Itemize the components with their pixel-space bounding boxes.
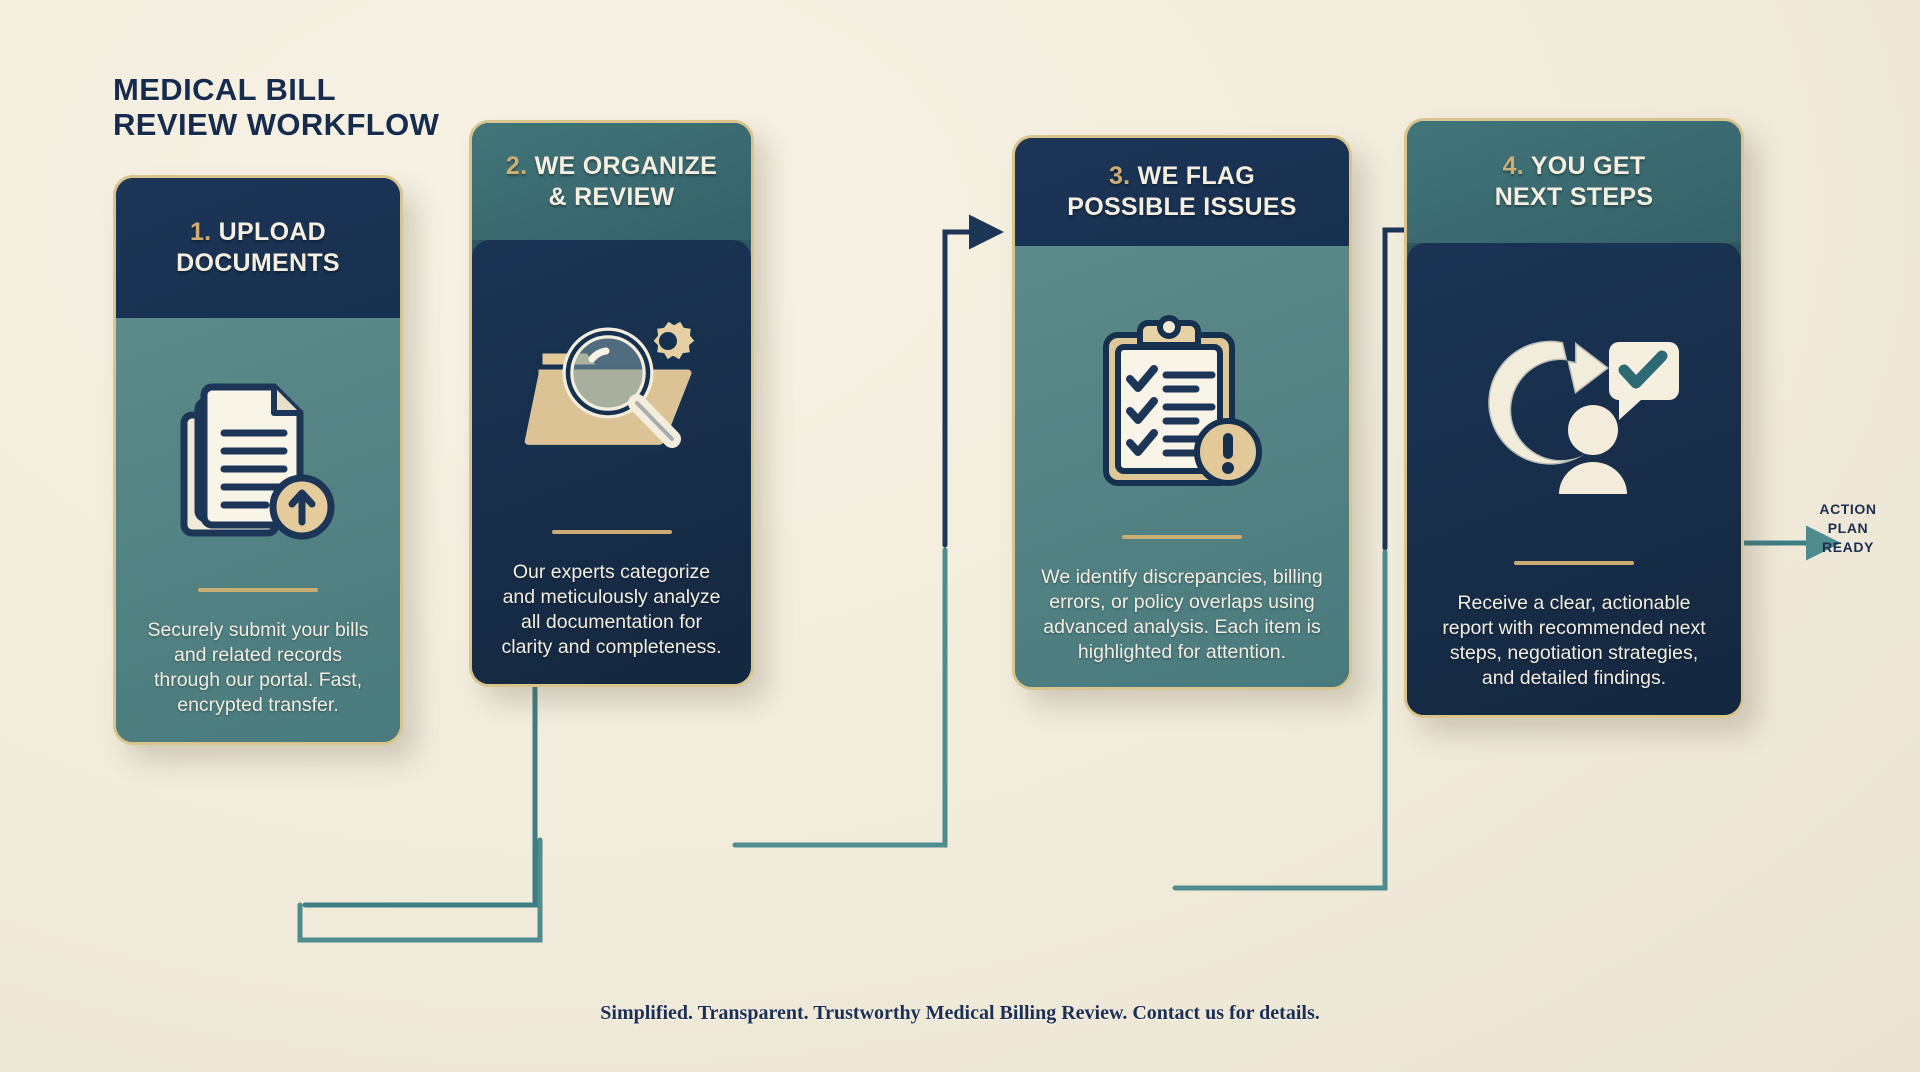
step-2-title-line-2: & REVIEW (548, 183, 674, 211)
connector-2-bottom-loop (735, 550, 945, 845)
outcome-line-1: ACTION (1793, 500, 1903, 519)
outcome-line-2: PLAN (1793, 519, 1903, 538)
step-2-divider (552, 530, 672, 534)
folder-magnifier-gear-icon (472, 264, 751, 530)
infographic-canvas: MEDICAL BILL REVIEW WORKFLOW 1. UPLOA (0, 0, 1920, 1072)
step-4-divider (1514, 561, 1634, 565)
outcome-label: ACTION PLAN READY (1793, 500, 1903, 557)
step-1-body: Securely submit your bills and related r… (116, 318, 400, 745)
connector-2-to-3-upper (945, 232, 985, 545)
step-card-1[interactable]: 1. UPLOAD DOCUMENTS (113, 175, 403, 745)
step-1-divider (198, 588, 318, 592)
step-3-divider (1122, 535, 1242, 539)
person-arrow-approved-icon (1407, 265, 1741, 561)
step-2-header: 2. WE ORGANIZE & REVIEW (472, 123, 751, 240)
step-1-title-line-1: UPLOAD (219, 218, 326, 246)
step-3-description: We identify discrepancies, billing error… (1015, 565, 1349, 665)
step-2-number: 2. (506, 152, 527, 180)
outcome-line-3: READY (1793, 538, 1903, 557)
step-card-2[interactable]: 2. WE ORGANIZE & REVIEW (469, 120, 754, 687)
step-1-description: Securely submit your bills and related r… (116, 618, 400, 718)
connector-1-bottom-loop (300, 840, 540, 940)
step-3-body: We identify discrepancies, billing error… (1015, 246, 1349, 690)
title-line-2: REVIEW WORKFLOW (113, 107, 439, 142)
step-3-title-line-1: WE FLAG (1138, 162, 1255, 190)
footer-tagline: Simplified. Transparent. Trustworthy Med… (0, 1002, 1920, 1025)
clipboard-checklist-alert-icon (1015, 270, 1349, 535)
documents-upload-icon (116, 344, 400, 588)
step-3-number: 3. (1109, 162, 1130, 190)
step-1-title-line-2: DOCUMENTS (176, 249, 340, 277)
step-4-title-line-1: YOU GET (1531, 152, 1646, 180)
step-2-body: Our experts categorize and meticulously … (472, 240, 751, 687)
step-4-body: Receive a clear, actionable report with … (1407, 243, 1741, 718)
step-4-description: Receive a clear, actionable report with … (1407, 591, 1741, 691)
step-card-4[interactable]: 4. YOU GET NEXT STEPS (1404, 118, 1744, 718)
step-4-number: 4. (1503, 152, 1524, 180)
step-2-description: Our experts categorize and meticulously … (472, 560, 751, 660)
title-line-1: MEDICAL BILL (113, 72, 439, 107)
step-4-title-line-2: NEXT STEPS (1495, 183, 1654, 211)
step-4-header: 4. YOU GET NEXT STEPS (1407, 121, 1741, 243)
step-3-header: 3. WE FLAG POSSIBLE ISSUES (1015, 138, 1349, 246)
step-3-title-line-2: POSSIBLE ISSUES (1067, 193, 1297, 221)
step-card-3[interactable]: 3. WE FLAG POSSIBLE ISSUES (1012, 135, 1352, 690)
step-1-header: 1. UPLOAD DOCUMENTS (116, 178, 400, 318)
step-2-title-line-1: WE ORGANIZE (535, 152, 717, 180)
step-1-number: 1. (190, 218, 211, 246)
page-title: MEDICAL BILL REVIEW WORKFLOW (113, 72, 439, 142)
